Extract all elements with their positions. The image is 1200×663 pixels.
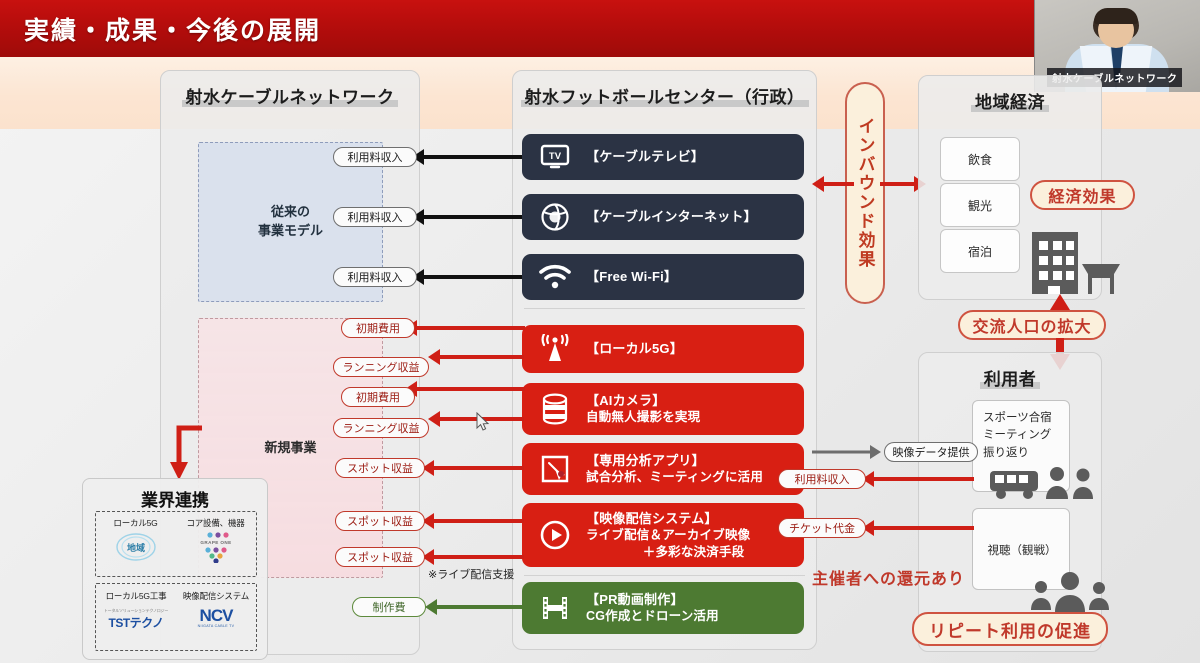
pill-running-2[interactable]: ランニング収益 (333, 418, 429, 438)
pill-usage-fee-users[interactable]: 利用料収入 (778, 469, 866, 489)
zone-new-business-label: 新規事業 (264, 439, 316, 458)
badge-inbound-effect-label: インバウンド効果 (853, 117, 878, 269)
pill-initial-1[interactable]: 初期費用 (341, 318, 415, 338)
panel-industry-collaboration: 業界連携 ローカル5G 地域 コア設備、機器 (82, 478, 268, 660)
card-free-wifi-label: 【Free Wi-Fi】 (586, 268, 677, 285)
badge-economic-effect: 経済効果 (1030, 180, 1135, 210)
bus-people-icon (988, 466, 1113, 502)
industry-cell-video-system: 映像配信システム NCV NIIGATA CABLE TV (176, 586, 256, 631)
panel-regional-economy-title: 地域経済 (919, 88, 1101, 113)
pill-spot-1[interactable]: スポット収益 (335, 458, 425, 478)
card-analysis-app-label: 【専用分析アプリ】 試合分析、ミーティングに活用 (586, 452, 763, 486)
tst-techno-logo: トータルソリューションテクノロジー TSTテクノ (96, 608, 176, 631)
card-ai-camera-label: 【AIカメラ】 自動無人撮影を実現 (586, 392, 700, 426)
center-divider-1 (524, 308, 805, 309)
chiiki-logo: 地域 (97, 532, 175, 562)
zone-legacy-business-label: 従来の事業モデル (258, 203, 323, 241)
film-icon (536, 589, 574, 627)
wifi-icon (536, 258, 574, 296)
globe-icon (536, 198, 574, 236)
card-pr-video-label: 【PR動画制作】 CG作成とドローン活用 (586, 591, 719, 625)
play-icon (536, 516, 574, 554)
pill-production[interactable]: 制作費 (352, 597, 426, 617)
card-pr-video[interactable]: 【PR動画制作】 CG作成とドローン活用 (522, 582, 804, 634)
speaker-hair (1094, 8, 1138, 24)
pill-spot-3[interactable]: スポット収益 (335, 547, 425, 567)
tv-icon: TV (536, 138, 574, 176)
industry-cell-row-1: ローカル5G 地域 コア設備、機器 GRAPE ONE (95, 511, 257, 577)
card-cable-tv-label: 【ケーブルテレビ】 (586, 148, 704, 165)
card-free-wifi[interactable]: 【Free Wi-Fi】 (522, 254, 804, 300)
user-item-viewing-label: 視聴（観戦） (983, 543, 1061, 560)
pill-spot-2[interactable]: スポット収益 (335, 511, 425, 531)
card-video-delivery[interactable]: 【映像配信システム】 ライブ配信＆アーカイブ映像 ＋多彩な決済手段 (522, 503, 804, 567)
svg-text:TV: TV (549, 151, 562, 162)
panel-cable-network-title: 射水ケーブルネットワーク (161, 83, 419, 108)
industry-cell-core-equipment: コア設備、機器 GRAPE ONE (176, 513, 256, 563)
card-cable-internet[interactable]: 【ケーブルインターネット】 (522, 194, 804, 240)
card-analysis-app[interactable]: 【専用分析アプリ】 試合分析、ミーティングに活用 (522, 443, 804, 495)
card-local-5g[interactable]: 【ローカル5G】 (522, 325, 804, 373)
panel-industry-collaboration-title: 業界連携 (83, 486, 267, 511)
panel-users-title: 利用者 (919, 365, 1101, 390)
antenna-icon (536, 330, 574, 368)
note-live-support: ※ライブ配信支援 (428, 566, 514, 582)
card-ai-camera[interactable]: 【AIカメラ】 自動無人撮影を実現 (522, 383, 804, 435)
pill-usage-fee-1[interactable]: 利用料収入 (333, 147, 417, 167)
slide-stage: 実績・成果・今後の展開 射水ケーブルネットワーク 射水ケーブルネットワーク 従来… (0, 0, 1200, 663)
pill-video-data[interactable]: 映像データ提供 (884, 442, 978, 462)
buildings-icon (1030, 228, 1120, 298)
badge-inbound-effect: インバウンド効果 (845, 82, 885, 304)
user-item-sports-camp-line2: ミーティング (983, 427, 1061, 444)
tap-screen-icon (536, 450, 574, 488)
badge-population-expansion: 交流人口の拡大 (958, 310, 1106, 340)
badge-repeat-use: リピート利用の促進 (912, 612, 1108, 646)
panel-football-center-title: 射水フットボールセンター（行政） (513, 83, 816, 108)
economy-item-dining[interactable]: 飲食 (940, 137, 1020, 181)
industry-cell-local-5g-works: ローカル5G工事 トータルソリューションテクノロジー TSTテクノ (96, 586, 176, 631)
card-cable-tv[interactable]: TV 【ケーブルテレビ】 (522, 134, 804, 180)
card-video-delivery-label: 【映像配信システム】 ライブ配信＆アーカイブ映像 ＋多彩な決済手段 (586, 510, 750, 560)
title-bar: 実績・成果・今後の展開 (0, 0, 1035, 57)
industry-cell-row-2: ローカル5G工事 トータルソリューションテクノロジー TSTテクノ 映像配信シス… (95, 583, 257, 651)
camera-db-icon (536, 390, 574, 428)
user-item-sports-camp-line3: 振り返り (983, 445, 1061, 462)
center-divider-2 (524, 575, 805, 576)
user-item-sports-camp-line1: スポーツ合宿 (983, 410, 1061, 427)
industry-cell-local-5g: ローカル5G 地域 (97, 513, 175, 563)
grape-one-logo: GRAPE ONE (176, 531, 256, 563)
pill-ticket-fee[interactable]: チケット代金 (778, 518, 866, 538)
ncv-logo: NCV NIIGATA CABLE TV (176, 607, 256, 628)
svg-text:GRAPE ONE: GRAPE ONE (200, 540, 231, 545)
economy-item-lodging[interactable]: 宿泊 (940, 229, 1020, 273)
pill-usage-fee-3[interactable]: 利用料収入 (333, 267, 417, 287)
note-organizer-return: 主催者への還元あり (812, 565, 965, 589)
card-local-5g-label: 【ローカル5G】 (586, 340, 683, 357)
pill-running-1[interactable]: ランニング収益 (333, 357, 429, 377)
page-title: 実績・成果・今後の展開 (24, 11, 321, 47)
audience-icon (1028, 570, 1128, 616)
card-cable-internet-label: 【ケーブルインターネット】 (586, 208, 757, 225)
svg-text:地域: 地域 (126, 542, 144, 553)
economy-item-tourism[interactable]: 観光 (940, 183, 1020, 227)
pill-usage-fee-2[interactable]: 利用料収入 (333, 207, 417, 227)
pill-initial-2[interactable]: 初期費用 (341, 387, 415, 407)
